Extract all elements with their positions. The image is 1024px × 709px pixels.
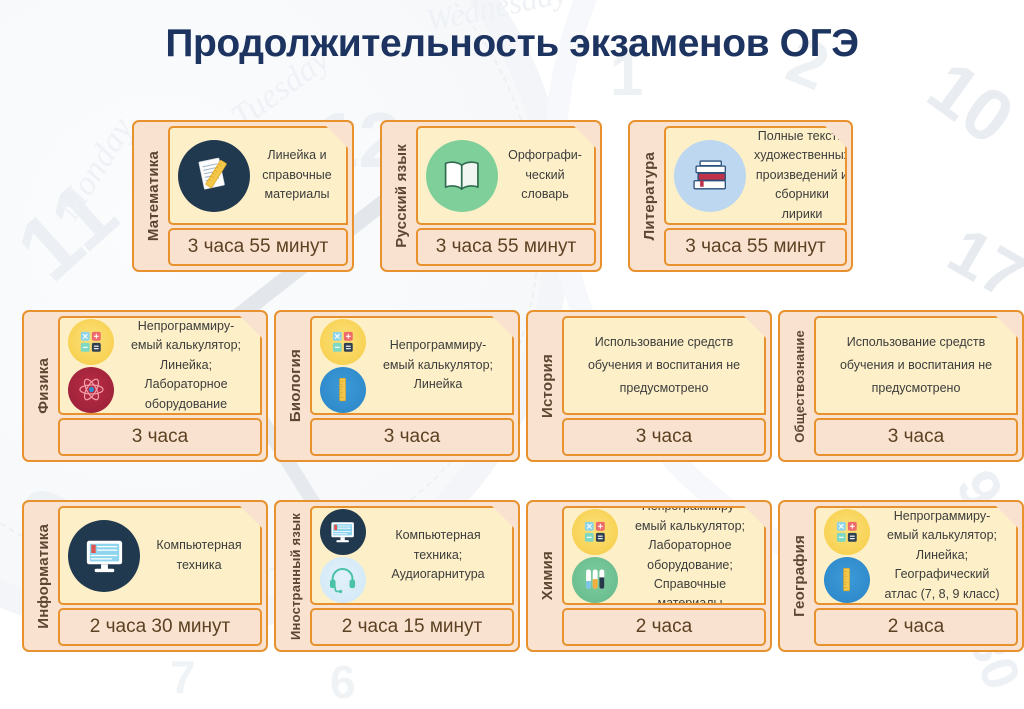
subject-label: Обществознание (784, 316, 814, 456)
exam-duration: 3 часа 55 минут (168, 228, 348, 266)
requirement-icons (672, 140, 750, 212)
exam-duration: 2 часа 30 минут (58, 608, 262, 646)
requirements-text: Компьютерная техника; Аудиогарнитура (370, 526, 506, 584)
card-body: Использование средств обучения и воспита… (562, 316, 766, 456)
exam-card-row-2: Физика Непрограммиру-емый кал (22, 310, 1024, 462)
card-body: Компьютерная техника; Аудиогарнитура2 ча… (310, 506, 514, 646)
clock-tick-ring (0, 0, 540, 580)
exam-duration: 3 часа 55 минут (664, 228, 847, 266)
requirements-text: Орфографи-ческий словарь (502, 146, 588, 204)
requirements-text: Непрограммиру-емый калькулятор; Линейка;… (874, 507, 1010, 604)
subject-label: Биология (280, 316, 310, 456)
requirements-text: Линейка и справочные материалы (254, 146, 340, 204)
exam-card[interactable]: ИсторияИспользование средств обучения и … (526, 310, 772, 462)
subject-label: Информатика (28, 506, 58, 646)
subject-label-text: Литература (641, 152, 658, 240)
calculator-icon (68, 319, 114, 365)
calculator-icon (572, 509, 618, 555)
exam-duration: 3 часа (814, 418, 1018, 456)
atom-icon (68, 367, 114, 413)
exam-card[interactable]: География Непрогра (778, 500, 1024, 652)
exam-card[interactable]: Химия (526, 500, 772, 652)
card-body: Компьютерная техника2 часа 30 минут (58, 506, 262, 646)
requirements-text: Непрограммиру-емый калькулятор; Линейка (370, 336, 506, 394)
exam-card-row-3: Информатика Компьютерная техника2 часа 3… (22, 500, 1024, 652)
requirements-panel: Непрограммиру-емый калькулятор; Линейка;… (58, 316, 262, 415)
requirement-icons (66, 319, 118, 413)
exam-duration: 2 часа 15 минут (310, 608, 514, 646)
headset-icon (320, 557, 366, 603)
test-tubes-icon (572, 557, 618, 603)
subject-label-text: Математика (145, 151, 162, 241)
subject-label: История (532, 316, 562, 456)
requirements-panel: Компьютерная техника; Аудиогарнитура (310, 506, 514, 605)
requirements-panel: Использование средств обучения и воспита… (562, 316, 766, 415)
subject-label-text: Физика (35, 358, 52, 414)
requirements-text: Непрограммиру-емый калькулятор; Линейка;… (118, 317, 254, 414)
subject-label: Литература (634, 126, 664, 266)
exam-duration: 3 часа (310, 418, 514, 456)
requirements-text: Использование средств обучения и воспита… (822, 331, 1010, 400)
subject-label-text: Иностранный язык (288, 513, 303, 640)
subject-label-text: Обществознание (792, 330, 807, 443)
watermark-number: 6 (330, 655, 356, 709)
exam-card[interactable]: Русский язык Орфографи-ческий словарь3 ч… (380, 120, 602, 272)
requirements-panel: Орфографи-ческий словарь (416, 126, 596, 225)
requirements-text: Компьютерная техника (144, 536, 254, 575)
exam-card[interactable]: Математика Линейка и (132, 120, 354, 272)
exam-card-row-1: Математика Линейка и (132, 120, 853, 272)
requirement-icons (424, 140, 502, 212)
requirements-panel: Полные тексты художественных произведени… (664, 126, 847, 225)
requirements-panel: Компьютерная техника (58, 506, 262, 605)
requirements-panel: Непрограммиру-емый калькулятор; Линейка (310, 316, 514, 415)
requirements-text: Полные тексты художественных произведени… (750, 127, 847, 224)
requirements-panel: Использование средств обучения и воспита… (814, 316, 1018, 415)
requirement-icons (66, 520, 144, 592)
requirements-panel: Линейка и справочные материалы (168, 126, 348, 225)
requirements-text: Использование средств обучения и воспита… (570, 331, 758, 400)
exam-duration: 3 часа (562, 418, 766, 456)
requirements-text: Непрограммиру-емый калькулятор; Лаборато… (622, 506, 758, 605)
exam-duration: 2 часа (562, 608, 766, 646)
watermark-weekday: Monday (50, 112, 141, 227)
subject-label: Иностранный язык (280, 506, 310, 646)
card-body: Линейка и справочные материалы3 часа 55 … (168, 126, 348, 266)
watermark-number: 17 (936, 212, 1024, 315)
subject-label: Русский язык (386, 126, 416, 266)
exam-duration: 3 часа (58, 418, 262, 456)
subject-label-text: Русский язык (393, 144, 410, 248)
exam-card[interactable]: Биология Непрограм (274, 310, 520, 462)
subject-label-text: География (791, 535, 808, 617)
calculator-icon (824, 509, 870, 555)
monitor-icon (320, 509, 366, 555)
card-body: Непрограммиру-емый калькулятор; Лаборато… (562, 506, 766, 646)
monitor-icon (68, 520, 140, 592)
open-book-icon (426, 140, 498, 212)
card-body: Использование средств обучения и воспита… (814, 316, 1018, 456)
requirements-panel: Непрограммиру-емый калькулятор; Лаборато… (562, 506, 766, 605)
subject-label: Физика (28, 316, 58, 456)
book-stack-icon (674, 140, 746, 212)
page-title: Продолжительность экзаменов ОГЭ (0, 22, 1024, 66)
exam-duration: 3 часа 55 минут (416, 228, 596, 266)
subject-label-text: Химия (539, 551, 556, 600)
exam-card[interactable]: Иностранный язык Компьютерная техника; А… (274, 500, 520, 652)
subject-label: Математика (138, 126, 168, 266)
ruler-icon (320, 367, 366, 413)
exam-duration: 2 часа (814, 608, 1018, 646)
card-body: Полные тексты художественных произведени… (664, 126, 847, 266)
exam-card[interactable]: ОбществознаниеИспользование средств обуч… (778, 310, 1024, 462)
requirements-panel: Непрограммиру-емый калькулятор; Линейка;… (814, 506, 1018, 605)
ruler-icon (824, 557, 870, 603)
paper-ruler-icon (178, 140, 250, 212)
requirement-icons (318, 319, 370, 413)
card-body: Орфографи-ческий словарь3 часа 55 минут (416, 126, 596, 266)
exam-card[interactable]: Информатика Компьютерная техника2 часа 3… (22, 500, 268, 652)
subject-label: География (784, 506, 814, 646)
card-body: Непрограммиру-емый калькулятор; Линейка;… (814, 506, 1018, 646)
requirement-icons (570, 509, 622, 603)
subject-label-text: Информатика (35, 524, 52, 629)
subject-label-text: Биология (287, 349, 304, 422)
requirement-icons (318, 509, 370, 603)
calculator-icon (320, 319, 366, 365)
watermark-number: 7 (170, 650, 196, 704)
requirement-icons (822, 509, 874, 603)
subject-label-text: История (539, 354, 556, 418)
requirement-icons (176, 140, 254, 212)
exam-card[interactable]: Литература Полные тексты художественных … (628, 120, 853, 272)
exam-card[interactable]: Физика Непрограммиру-емый кал (22, 310, 268, 462)
card-body: Непрограммиру-емый калькулятор; Линейка;… (58, 316, 262, 456)
watermark-number: 11 (0, 161, 137, 301)
card-body: Непрограммиру-емый калькулятор; Линейка3… (310, 316, 514, 456)
subject-label: Химия (532, 506, 562, 646)
